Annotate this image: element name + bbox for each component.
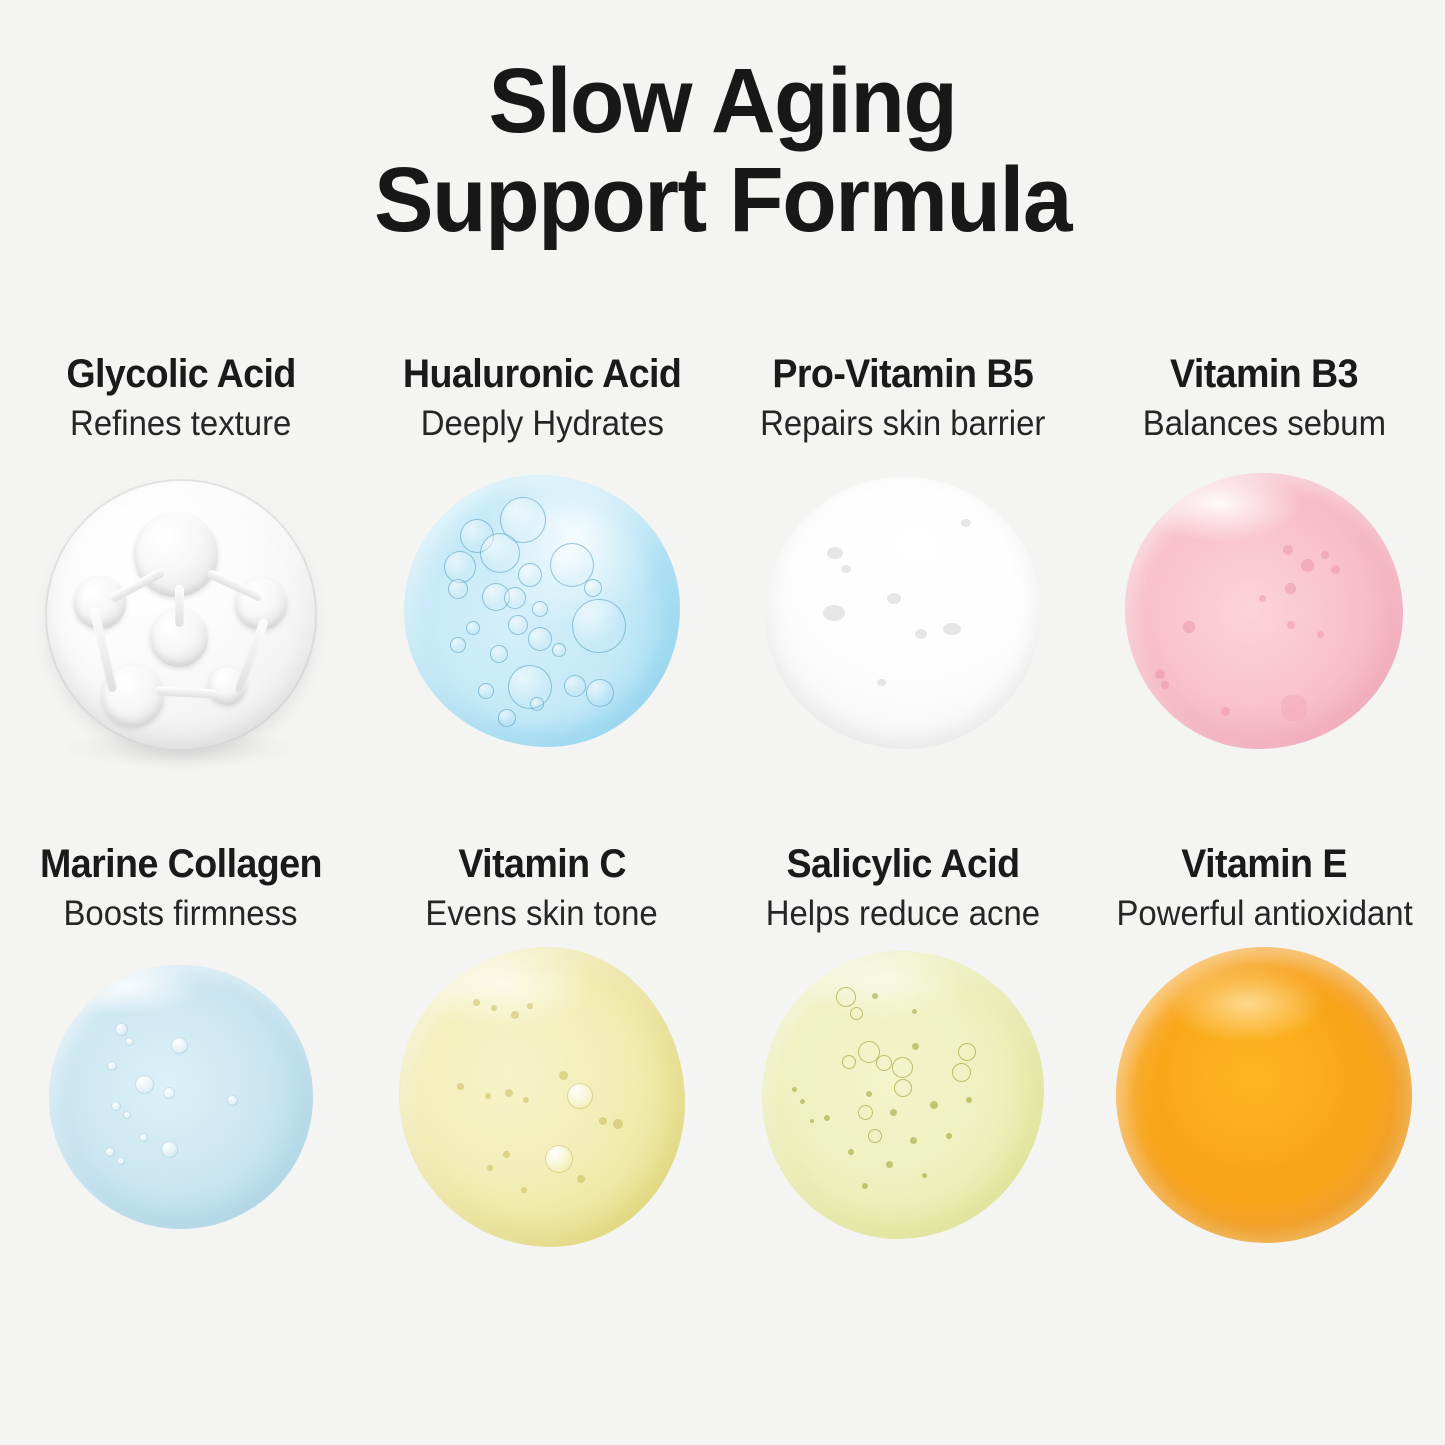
serum-fleck xyxy=(823,605,845,621)
ingredient-name: Vitamin B3 xyxy=(1170,352,1358,396)
bubble xyxy=(1221,707,1230,716)
bubble xyxy=(824,1115,830,1121)
bubble xyxy=(107,1061,117,1071)
bubble xyxy=(848,1149,854,1155)
ingredient-description: Balances sebum xyxy=(1143,403,1386,445)
bubble xyxy=(457,1083,464,1090)
bubble xyxy=(466,621,480,635)
bubble xyxy=(842,1055,856,1069)
bubble xyxy=(892,1057,913,1078)
clear-serum-drop-icon xyxy=(765,477,1041,749)
bubble xyxy=(876,1055,892,1071)
bubble xyxy=(503,1151,510,1158)
ingredient-description: Powerful antioxidant xyxy=(1116,893,1412,935)
bubble xyxy=(912,1043,919,1050)
bubble xyxy=(490,645,508,663)
bubble xyxy=(508,615,528,635)
bubble xyxy=(952,1063,971,1082)
swatch-wrap xyxy=(361,445,722,747)
ingredient-description: Repairs skin barrier xyxy=(761,403,1046,445)
ingredient-row-2: Marine Collagen Boosts firmness xyxy=(0,842,1445,1312)
orange-oil-drop-icon xyxy=(1116,947,1412,1243)
page-title: Slow Aging Support Formula xyxy=(0,52,1445,251)
bubble xyxy=(1285,583,1296,594)
bubble xyxy=(868,1129,882,1143)
ingredient-card-hualuronic-acid: Hualuronic Acid Deeply Hydrates xyxy=(361,352,722,842)
light-blue-gel-drop-icon xyxy=(49,965,313,1229)
ingredient-row-1: Glycolic Acid Refines texture xyxy=(0,352,1445,842)
bubble xyxy=(171,1037,188,1054)
ingredient-card-vitamin-c: Vitamin C Evens skin tone xyxy=(361,842,722,1312)
ingredient-description: Helps reduce acne xyxy=(766,893,1040,935)
bubble xyxy=(866,1091,872,1097)
serum-fleck xyxy=(887,593,901,604)
bubble xyxy=(559,1071,568,1080)
bubble xyxy=(511,1011,519,1019)
bubble xyxy=(552,643,566,657)
bubble xyxy=(117,1157,125,1165)
bubble xyxy=(886,1161,893,1168)
bubble xyxy=(478,683,494,699)
bubble xyxy=(872,993,878,999)
ingredient-card-salicylic-acid: Salicylic Acid Helps reduce acne xyxy=(723,842,1084,1312)
bubble xyxy=(480,533,520,573)
bubble xyxy=(161,1141,178,1158)
bubble xyxy=(584,579,602,597)
bubble-large xyxy=(545,1145,573,1173)
bubble xyxy=(572,599,626,653)
serum-fleck xyxy=(961,519,971,527)
bubble xyxy=(966,1097,972,1103)
bubble xyxy=(518,563,542,587)
blue-bubble-gel-drop-icon xyxy=(404,475,680,747)
bubble xyxy=(910,1137,917,1144)
ingredient-description: Refines texture xyxy=(70,403,291,445)
ingredient-description: Deeply Hydrates xyxy=(420,403,663,445)
swatch-wrap xyxy=(361,935,722,1247)
bubble xyxy=(958,1043,976,1061)
swatch-wrap xyxy=(1084,935,1445,1243)
bubble xyxy=(912,1009,917,1014)
bubble xyxy=(448,579,468,599)
bubble xyxy=(1183,621,1195,633)
serum-fleck xyxy=(877,679,886,686)
bubble xyxy=(810,1119,814,1123)
bubble xyxy=(862,1183,868,1189)
bubble xyxy=(521,1187,527,1193)
ingredient-name: Salicylic Acid xyxy=(787,842,1020,886)
ingredient-card-vitamin-b3: Vitamin B3 Balances sebum xyxy=(1084,352,1445,842)
ingredient-card-marine-collagen: Marine Collagen Boosts firmness xyxy=(0,842,361,1312)
bubble xyxy=(227,1095,238,1106)
bubble xyxy=(139,1133,148,1142)
ingredient-name: Marine Collagen xyxy=(40,842,322,886)
ingredient-card-glycolic-acid: Glycolic Acid Refines texture xyxy=(0,352,361,842)
swatch-wrap xyxy=(723,935,1084,1239)
bubble xyxy=(505,1089,513,1097)
swatch-wrap xyxy=(0,935,361,1229)
serum-fleck xyxy=(915,629,927,639)
bubble xyxy=(792,1087,797,1092)
bubble xyxy=(930,1101,938,1109)
bubble xyxy=(922,1173,927,1178)
ingredient-name: Vitamin E xyxy=(1182,842,1348,886)
ingredient-name: Vitamin C xyxy=(458,842,626,886)
ingredient-description: Evens skin tone xyxy=(426,893,658,935)
bubble-large xyxy=(567,1083,593,1109)
bubble xyxy=(487,1165,493,1171)
bubble xyxy=(491,1005,497,1011)
bubble xyxy=(504,587,526,609)
oil-gloss-highlight xyxy=(1170,965,1324,1042)
bubble xyxy=(1283,545,1293,555)
molecule-bond-3 xyxy=(175,585,184,627)
bubble xyxy=(498,709,516,727)
bubble xyxy=(105,1147,115,1157)
swatch-wrap xyxy=(0,445,361,751)
ingredient-name: Hualuronic Acid xyxy=(403,352,681,396)
molecule-bond-5 xyxy=(234,618,269,694)
bubble xyxy=(163,1087,175,1099)
bubble xyxy=(946,1133,952,1139)
bubble xyxy=(1287,621,1295,629)
bubble xyxy=(1321,551,1329,559)
ingredient-description: Boosts firmness xyxy=(64,893,298,935)
title-line-1: Slow Aging xyxy=(22,52,1424,151)
ingredient-grid: Glycolic Acid Refines texture xyxy=(0,352,1445,1312)
bubble xyxy=(485,1093,491,1099)
bubble xyxy=(564,675,586,697)
bubble xyxy=(850,1007,863,1020)
bubble xyxy=(894,1079,912,1097)
bubble xyxy=(1317,631,1324,638)
bubble xyxy=(1301,559,1314,572)
bubble xyxy=(528,627,552,651)
bubble xyxy=(800,1099,805,1104)
bubble xyxy=(123,1111,131,1119)
serum-fleck xyxy=(841,565,851,573)
serum-fleck xyxy=(943,623,961,635)
bubble xyxy=(1161,681,1169,689)
infographic-page: Slow Aging Support Formula Glycolic Acid… xyxy=(0,0,1445,1445)
pink-gel-drop-icon xyxy=(1125,473,1403,749)
title-line-2: Support Formula xyxy=(22,151,1424,250)
yellow-green-gel-drop-icon xyxy=(762,951,1044,1239)
bubble xyxy=(135,1075,154,1094)
molecule-bond-6 xyxy=(154,686,216,698)
bubble xyxy=(836,987,856,1007)
bubble xyxy=(530,697,544,711)
bubble xyxy=(586,679,614,707)
bubble xyxy=(125,1037,134,1046)
bubble xyxy=(1155,669,1165,679)
bubble xyxy=(577,1175,585,1183)
bubble xyxy=(1259,595,1266,602)
bubble xyxy=(450,637,466,653)
molecule-structure xyxy=(45,479,317,751)
bubble-large xyxy=(1281,695,1307,721)
bubble xyxy=(613,1119,623,1129)
bubble xyxy=(599,1117,607,1125)
bubble xyxy=(115,1023,128,1036)
molecule-sphere-icon xyxy=(45,479,317,751)
ingredient-card-pro-vitamin-b5: Pro-Vitamin B5 Repairs skin barrier xyxy=(723,352,1084,842)
ingredient-name: Glycolic Acid xyxy=(66,352,295,396)
bubble xyxy=(527,1003,533,1009)
bubble xyxy=(890,1109,897,1116)
swatch-wrap xyxy=(1084,445,1445,749)
bubble xyxy=(473,999,480,1006)
bubble xyxy=(858,1105,873,1120)
pale-yellow-serum-drop-icon xyxy=(399,947,685,1247)
ingredient-card-vitamin-e: Vitamin E Powerful antioxidant xyxy=(1084,842,1445,1312)
ingredient-name: Pro-Vitamin B5 xyxy=(773,352,1034,396)
swatch-wrap xyxy=(723,445,1084,749)
bubble xyxy=(111,1101,121,1111)
bubble xyxy=(532,601,548,617)
serum-fleck xyxy=(827,547,843,559)
bubble xyxy=(1331,565,1340,574)
bubble xyxy=(523,1097,529,1103)
